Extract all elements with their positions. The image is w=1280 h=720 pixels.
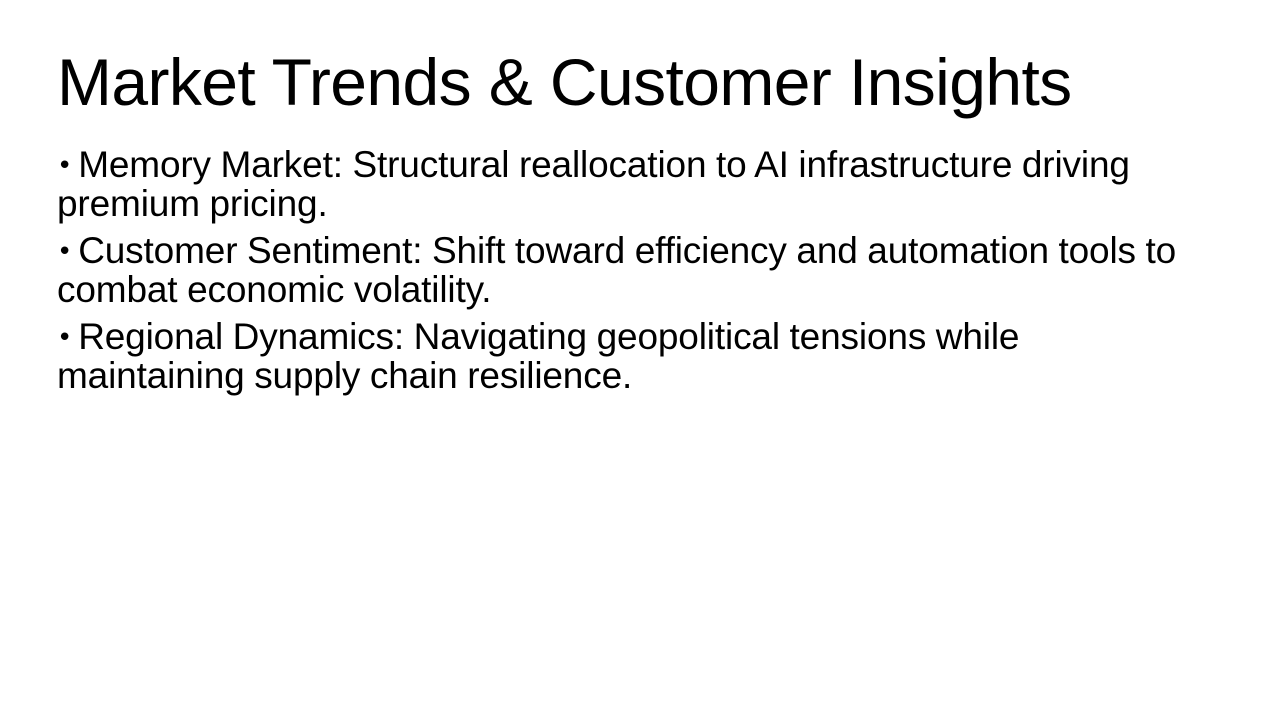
list-item-text: Memory Market: Structural reallocation t… [57,144,1130,224]
presentation-slide: Market Trends & Customer Insights •Memor… [0,0,1280,720]
list-item: •Memory Market: Structural reallocation … [57,146,1203,223]
bullet-list: •Memory Market: Structural reallocation … [57,146,1203,395]
bullet-dot-icon: • [57,323,72,353]
list-item: •Regional Dynamics: Navigating geopoliti… [57,318,1203,395]
list-item-text: Regional Dynamics: Navigating geopolitic… [57,316,1019,396]
page-title: Market Trends & Customer Insights [57,48,1207,118]
list-item-text: Customer Sentiment: Shift toward efficie… [57,230,1176,310]
bullet-dot-icon: • [57,151,72,181]
list-item: •Customer Sentiment: Shift toward effici… [57,232,1203,309]
bullet-dot-icon: • [57,237,72,267]
